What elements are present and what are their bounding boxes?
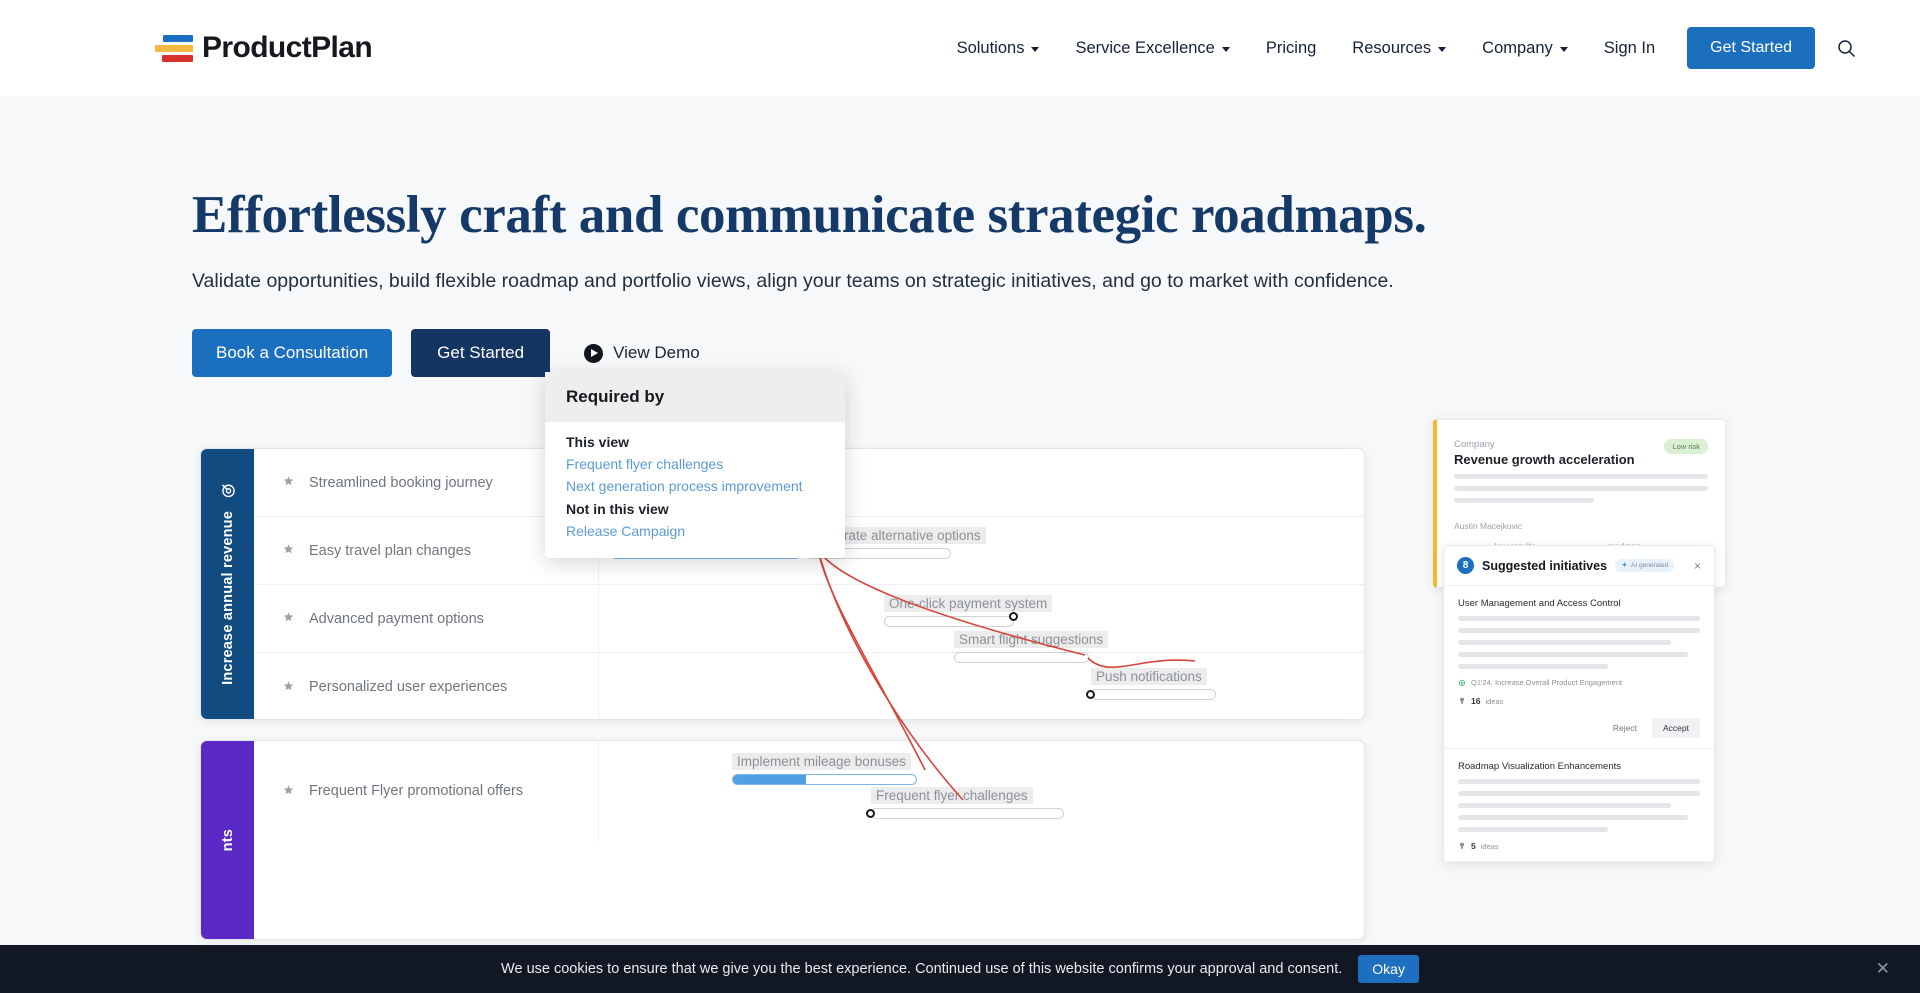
roadmap-item[interactable]: Smart flight suggestions: [954, 631, 1108, 663]
nav-item-resources[interactable]: Resources: [1334, 39, 1464, 58]
close-icon[interactable]: ✕: [1876, 959, 1890, 979]
cookie-message: We use cookies to ensure that we give yo…: [501, 961, 1342, 977]
ai-generated-label: AI generated: [1631, 562, 1668, 569]
nav-item-service-excellence[interactable]: Service Excellence: [1057, 39, 1247, 58]
page-title: Effortlessly craft and communicate strat…: [192, 186, 1920, 245]
dependency-node[interactable]: [1009, 612, 1018, 621]
suggested-initiatives-card: 8 Suggested initiatives AI generated × U…: [1443, 545, 1715, 863]
lane-tab-increase-annual-revenue[interactable]: Increase annual revenue: [201, 449, 254, 719]
star-icon: [281, 609, 296, 628]
close-icon[interactable]: ×: [1694, 559, 1701, 573]
item-label: Smart flight suggestions: [954, 631, 1108, 648]
dependency-node[interactable]: [866, 809, 875, 818]
tooltip-link-release-campaign[interactable]: Release Campaign: [566, 523, 824, 539]
play-icon: [584, 344, 603, 363]
view-demo-link[interactable]: View Demo: [584, 343, 700, 363]
initiative-name: Roadmap Visualization Enhancements: [1458, 761, 1700, 772]
target-icon: [220, 483, 236, 499]
nav-item-solutions[interactable]: Solutions: [939, 39, 1058, 58]
ideas-label: ideas: [1485, 697, 1503, 706]
lane-label: nts: [220, 829, 236, 851]
nav-label: Pricing: [1266, 39, 1316, 58]
initiative-ideas: 5 ideas: [1458, 841, 1700, 851]
tooltip-group-this-view: This view: [566, 434, 824, 450]
objective-text: Q1'24: Increase Overall Product Engageme…: [1471, 678, 1622, 687]
objective-eyebrow: Company: [1454, 439, 1635, 450]
logo-text: ProductPlan: [202, 31, 372, 65]
product-screenshot-mock: Increase annual revenue Streamlined book…: [0, 440, 1920, 993]
row-label: Advanced payment options: [309, 611, 484, 627]
roadmap-rows: Frequent Flyer promotional offers Implem…: [254, 741, 1364, 841]
placeholder-line: [1458, 815, 1688, 820]
item-progress-bar: [732, 774, 917, 785]
row-label: Frequent Flyer promotional offers: [309, 783, 523, 799]
nav-label: Sign In: [1604, 39, 1655, 58]
site-header: ProductPlan Solutions Service Excellence…: [0, 0, 1920, 96]
nav-item-sign-in[interactable]: Sign In: [1586, 39, 1673, 58]
item-progress-fill: [733, 775, 806, 784]
tooltip-group-not-in-this-view: Not in this view: [566, 501, 824, 517]
item-progress-bar: [884, 616, 1014, 627]
view-demo-label: View Demo: [613, 343, 700, 363]
list-item[interactable]: Roadmap Visualization Enhancements 5 ide…: [1444, 749, 1714, 862]
placeholder-line: [1458, 652, 1688, 657]
initiative-name: User Management and Access Control: [1458, 598, 1700, 609]
tooltip-body: This view Frequent flyer challenges Next…: [545, 422, 845, 558]
book-consultation-button[interactable]: Book a Consultation: [192, 329, 392, 377]
lane-tab-engagements[interactable]: nts: [201, 741, 254, 939]
tooltip-link-frequent-flyer-challenges[interactable]: Frequent flyer challenges: [566, 456, 824, 472]
required-by-tooltip: Required by This view Frequent flyer cha…: [545, 372, 845, 558]
objective-owner: Austin Macejkovic: [1454, 521, 1708, 531]
status-badge: Low risk: [1664, 439, 1708, 454]
placeholder-line: [1458, 616, 1700, 621]
chevron-down-icon: [1222, 47, 1230, 52]
table-row[interactable]: Personalized user experiences Smart flig…: [254, 653, 1364, 720]
suggested-card-title: Suggested initiatives: [1482, 559, 1607, 573]
lane-label: Increase annual revenue: [220, 483, 236, 685]
cookie-okay-button[interactable]: Okay: [1358, 955, 1419, 983]
ideas-count: 5: [1471, 841, 1476, 851]
hero-actions: Book a Consultation Get Started View Dem…: [192, 329, 1920, 377]
initiative-ideas: 16 ideas: [1458, 696, 1700, 706]
item-progress-bar: [954, 652, 1089, 663]
initiative-objective: Q1'24: Increase Overall Product Engageme…: [1458, 678, 1700, 687]
roadmap-item[interactable]: One-click payment system: [884, 595, 1052, 627]
cookie-consent-bar: We use cookies to ensure that we give yo…: [0, 945, 1920, 993]
row-name-cell: Frequent Flyer promotional offers: [254, 741, 599, 841]
header-get-started-button[interactable]: Get Started: [1687, 27, 1815, 69]
suggested-card-header: 8 Suggested initiatives AI generated ×: [1444, 546, 1714, 586]
roadmap-board-engagements: nts Frequent Flyer promotional offers Im…: [200, 740, 1365, 940]
placeholder-line: [1458, 791, 1700, 796]
roadmap-item[interactable]: Push notifications: [1091, 668, 1216, 700]
placeholder-line: [1458, 628, 1700, 633]
placeholder-line: [1454, 474, 1708, 479]
main-nav: Solutions Service Excellence Pricing Res…: [939, 27, 1862, 69]
hero-get-started-button[interactable]: Get Started: [411, 329, 550, 377]
objective-card-header: Company Revenue growth acceleration Low …: [1454, 439, 1708, 467]
lane-title: nts: [220, 829, 236, 851]
objective-title: Revenue growth acceleration: [1454, 452, 1635, 467]
row-label: Easy travel plan changes: [309, 543, 471, 559]
chevron-down-icon: [1438, 47, 1446, 52]
chevron-down-icon: [1560, 47, 1568, 52]
nav-label: Company: [1482, 39, 1553, 58]
table-row[interactable]: Frequent Flyer promotional offers Implem…: [254, 741, 1364, 841]
row-label: Streamlined booking journey: [309, 475, 493, 491]
placeholder-line: [1458, 640, 1671, 645]
logo-bars-icon: [155, 35, 193, 62]
chevron-down-icon: [1031, 47, 1039, 52]
nav-label: Resources: [1352, 39, 1431, 58]
placeholder-line: [1458, 779, 1700, 784]
placeholder-line: [1454, 498, 1594, 503]
row-name-cell: Personalized user experiences: [254, 653, 599, 720]
hero-subheading: Validate opportunities, build flexible r…: [192, 270, 1920, 293]
table-row[interactable]: Advanced payment options One-click payme…: [254, 585, 1364, 653]
placeholder-line: [1458, 827, 1608, 832]
star-icon: [281, 473, 296, 492]
nav-item-pricing[interactable]: Pricing: [1248, 39, 1334, 58]
item-label: One-click payment system: [884, 595, 1052, 612]
item-label: Push notifications: [1091, 668, 1207, 685]
star-icon: [281, 782, 296, 801]
search-icon[interactable]: [1837, 39, 1856, 58]
ai-generated-badge: AI generated: [1615, 559, 1674, 572]
tooltip-title: Required by: [545, 372, 845, 422]
list-item[interactable]: User Management and Access Control Q1'24…: [1444, 586, 1714, 749]
roadmap-item[interactable]: Implement mileage bonuses: [732, 753, 917, 785]
item-progress-bar: [1091, 689, 1216, 700]
count-badge: 8: [1457, 557, 1474, 574]
star-icon: [281, 678, 296, 697]
row-track: Smart flight suggestions Push notificati…: [599, 653, 1364, 720]
roadmap-item[interactable]: Frequent flyer challenges: [871, 787, 1064, 819]
reject-button[interactable]: Reject: [1604, 718, 1646, 738]
hero-section: Effortlessly craft and communicate strat…: [0, 96, 1920, 377]
item-label: Frequent flyer challenges: [871, 787, 1033, 804]
star-icon: [281, 541, 296, 560]
nav-item-company[interactable]: Company: [1464, 39, 1586, 58]
placeholder-line: [1458, 803, 1671, 808]
placeholder-line: [1454, 486, 1708, 491]
initiative-actions: Reject Accept: [1458, 718, 1700, 738]
nav-label: Solutions: [957, 39, 1025, 58]
ideas-count: 16: [1471, 696, 1480, 706]
placeholder-line: [1458, 664, 1608, 669]
productplan-logo[interactable]: ProductPlan: [155, 31, 372, 65]
tooltip-link-next-generation-process-improvement[interactable]: Next generation process improvement: [566, 478, 824, 494]
item-label: Implement mileage bonuses: [732, 753, 911, 770]
row-track: Implement mileage bonuses Frequent flyer…: [599, 741, 1364, 841]
nav-label: Service Excellence: [1075, 39, 1214, 58]
row-label: Personalized user experiences: [309, 679, 507, 695]
row-name-cell: Advanced payment options: [254, 585, 599, 652]
item-progress-bar: [871, 808, 1064, 819]
ideas-label: ideas: [1481, 842, 1499, 851]
lane-title: Increase annual revenue: [220, 511, 236, 685]
dependency-node[interactable]: [1086, 690, 1095, 699]
accept-button[interactable]: Accept: [1652, 718, 1700, 738]
